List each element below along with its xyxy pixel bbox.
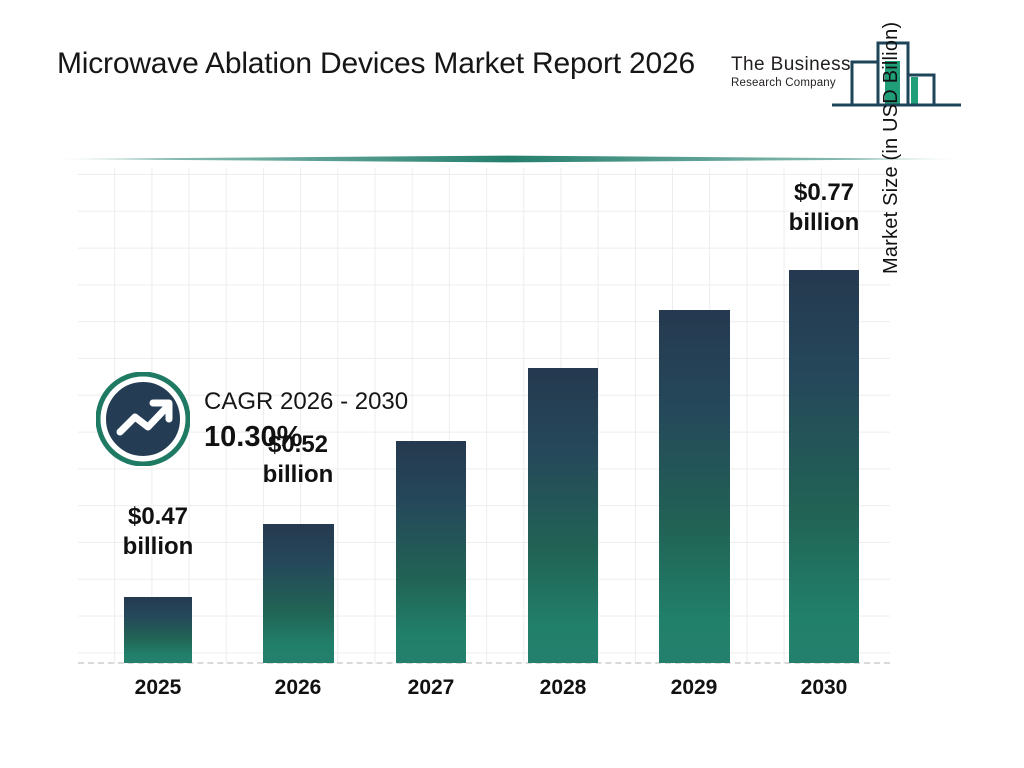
bar-2026[interactable] [263, 524, 334, 663]
xtick-2028: 2028 [508, 676, 618, 700]
value-label-2030-amount: $0.77 [769, 178, 879, 208]
xtick-2027: 2027 [376, 676, 486, 700]
xtick-2029: 2029 [639, 676, 749, 700]
xtick-2025: 2025 [103, 676, 213, 700]
company-logo: The Business Research Company [728, 33, 968, 133]
cagr-value-label: 10.30% [204, 418, 408, 456]
y-axis-title: Market Size (in USD Billion) [880, 0, 903, 274]
page-title: Microwave Ablation Devices Market Report… [57, 44, 717, 84]
chart-baseline [78, 662, 890, 664]
bar-2025[interactable] [124, 597, 192, 663]
bar-2030[interactable] [789, 270, 859, 663]
cagr-text-block: CAGR 2026 - 2030 10.30% [204, 386, 408, 456]
value-label-2025-amount: $0.47 [103, 502, 213, 532]
report-header: Microwave Ablation Devices Market Report… [0, 0, 1024, 150]
value-label-2030: $0.77 billion [769, 178, 879, 238]
bar-2029[interactable] [659, 310, 730, 663]
xtick-2026: 2026 [243, 676, 353, 700]
header-divider [48, 155, 968, 163]
bar-2028[interactable] [528, 368, 598, 663]
trending-up-icon [96, 372, 190, 466]
cagr-callout: CAGR 2026 - 2030 10.30% [96, 372, 516, 480]
market-size-bar-chart: $0.47 billion $0.52 billion $0.77 billio… [0, 168, 1024, 768]
cagr-period-label: CAGR 2026 - 2030 [204, 386, 408, 418]
value-label-2025-unit: billion [103, 532, 213, 562]
value-label-2025: $0.47 billion [103, 502, 213, 562]
value-label-2030-unit: billion [769, 208, 879, 238]
xtick-2030: 2030 [769, 676, 879, 700]
